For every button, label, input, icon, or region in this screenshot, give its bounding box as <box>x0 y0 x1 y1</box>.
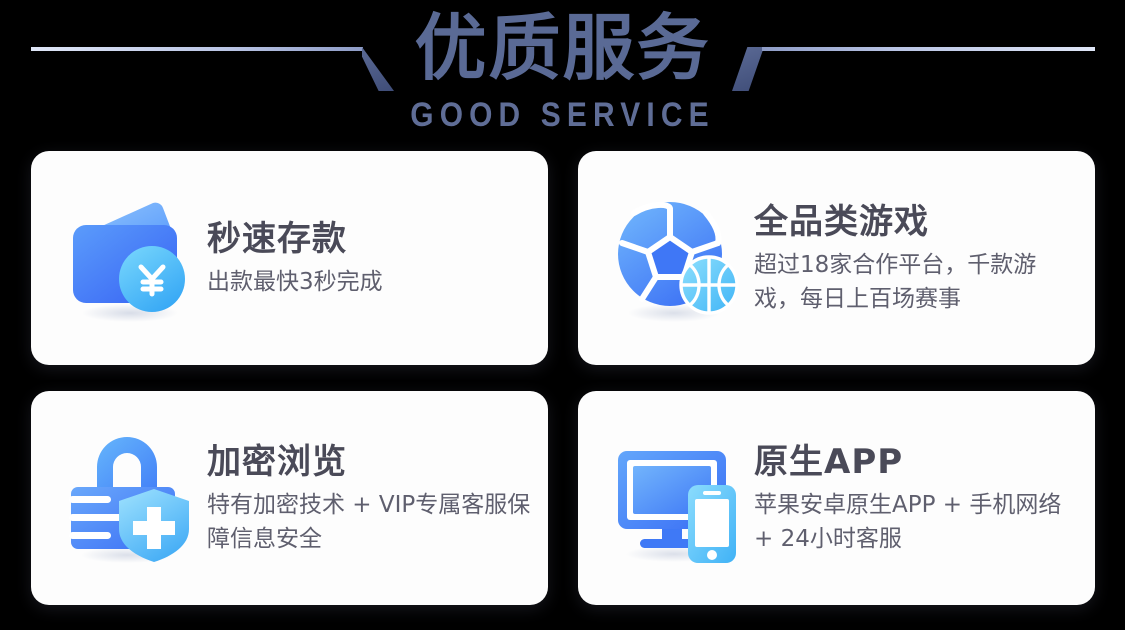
card-description: 苹果安卓原生APP + 手机网络 + 24小时客服 <box>754 488 1081 556</box>
soccer-basketball-icon <box>608 189 746 327</box>
card-text-block: 原生APP 苹果安卓原生APP + 手机网络 + 24小时客服 <box>754 440 1095 556</box>
card-text-block: 加密浏览 特有加密技术 + VIP专属客服保障信息安全 <box>207 440 548 556</box>
card-text-block: 全品类游戏 超过18家合作平台，千款游戏，每日上百场赛事 <box>754 200 1095 316</box>
feature-card-deposit[interactable]: 秒速存款 出款最快3秒完成 <box>31 151 548 365</box>
lock-shield-icon <box>61 429 199 567</box>
wallet-yen-icon <box>61 189 199 327</box>
page-subtitle: GOOD SERVICE <box>68 96 1058 135</box>
card-text-block: 秒速存款 出款最快3秒完成 <box>207 217 548 299</box>
feature-card-games[interactable]: 全品类游戏 超过18家合作平台，千款游戏，每日上百场赛事 <box>578 151 1095 365</box>
page-header: 优质服务 GOOD SERVICE <box>0 0 1125 142</box>
card-description: 出款最快3秒完成 <box>207 265 534 299</box>
card-description: 超过18家合作平台，千款游戏，每日上百场赛事 <box>754 248 1081 316</box>
card-title: 全品类游戏 <box>754 200 1081 244</box>
feature-card-encryption[interactable]: 加密浏览 特有加密技术 + VIP专属客服保障信息安全 <box>31 391 548 605</box>
page-root: 优质服务 GOOD SERVICE <box>0 0 1125 630</box>
feature-card-grid: 秒速存款 出款最快3秒完成 <box>31 151 1095 605</box>
monitor-phone-icon <box>608 429 746 567</box>
page-title: 优质服务 <box>0 6 1125 90</box>
feature-card-native-app[interactable]: 原生APP 苹果安卓原生APP + 手机网络 + 24小时客服 <box>578 391 1095 605</box>
card-title: 原生APP <box>754 440 1081 484</box>
card-description: 特有加密技术 + VIP专属客服保障信息安全 <box>207 488 534 556</box>
card-title: 秒速存款 <box>207 217 534 261</box>
card-title: 加密浏览 <box>207 440 534 484</box>
